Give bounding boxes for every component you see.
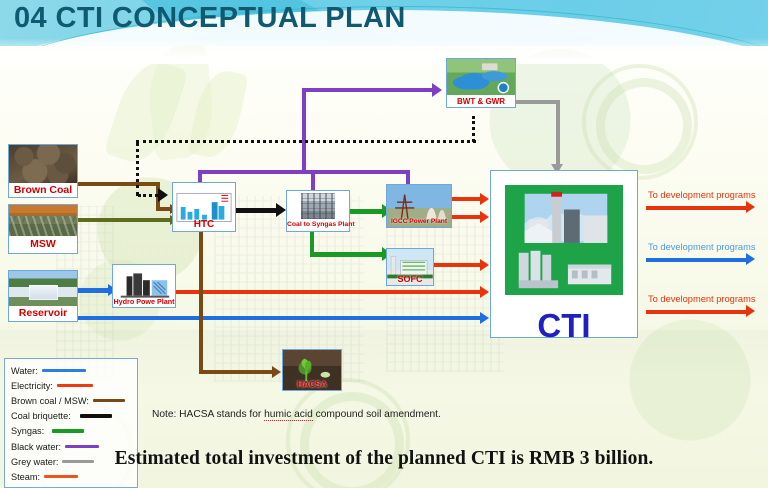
legend-item: Brown coal / MSW: [11,393,132,408]
node-msw[interactable]: MSW [8,204,78,254]
header-fade [0,38,768,64]
node-label: Reservoir [9,306,77,321]
line-recycle-dotted [472,116,475,142]
legend-label: Steam: [11,472,40,482]
arrowhead-electricity [480,286,489,298]
node-hydro-power-plant[interactable]: Hydro Powe Plant [112,264,176,308]
line-htc-to-hacsa [199,232,203,374]
node-igcc-power-plant[interactable]: IGCC Power Plant [386,184,452,228]
line-greywater-bus [516,100,560,104]
node-htc[interactable]: HTC [172,182,236,232]
legend-label: Electricity: [11,381,53,391]
legend-swatch-brown-coal [93,399,125,402]
line-msw-to-htc [78,218,172,222]
node-label: Hydro Powe Plant [113,296,175,307]
legend-item: Syngas: [11,424,132,439]
node-label: Coal to Syngas Plant [287,219,349,230]
arrowhead-electricity [480,259,489,271]
line-blackwater-riser [302,88,306,172]
arrowhead-electricity [480,193,489,205]
line-greywater-riser [556,100,560,166]
line-output-3 [646,310,750,314]
arrowhead-output-2 [746,253,755,265]
note-underlined: humic acid [264,409,313,421]
arrowhead-briquette [276,203,286,217]
msw-photo [9,205,77,236]
node-label: SOFC [387,274,433,285]
arrowhead-brown [272,366,281,378]
line-syngas-to-sofc [310,252,386,257]
node-label: Brown Coal [9,183,77,198]
industrial-plant-icon [505,185,623,295]
legend-label: Brown coal / MSW: [11,396,89,406]
line-igcc-to-cti [452,197,482,201]
legend-item: Water: [11,363,132,378]
footer-statement: Estimated total investment of the planne… [0,448,768,470]
arrowhead-electricity [480,211,489,223]
line-blackwater-to-bwt [302,88,436,92]
node-label: BWT & GWR [447,95,515,108]
water-treatment-icon [447,59,515,95]
line-output-2 [646,258,750,262]
legend-label: Coal briquette: [11,411,71,421]
legend-label: Syngas: [11,426,44,436]
legend-label: Water: [11,366,38,376]
brown-coal-photo [9,145,77,183]
line-reservoir-to-hydro [78,288,110,293]
node-coal-to-syngas-plant[interactable]: Coal to Syngas Plant [286,190,350,232]
line-htc-to-syngas [236,208,280,213]
line-syngas-to-igcc [350,209,386,214]
legend-item: Coal briquette: [11,409,132,424]
legend-item: Electricity: [11,378,132,393]
output-label-2: To development programs [648,242,756,252]
output-label-1: To development programs [648,190,756,200]
legend-swatch-syngas [52,429,84,433]
line-recycle-dotted [136,140,476,143]
line-htc-to-hacsa [199,370,275,374]
cti-photo [505,185,623,295]
line-recycle-dotted [138,194,158,197]
line-recycle-dotted [136,142,139,196]
cti-label: CTI [491,309,637,343]
node-label: IGCC Power Plant [387,217,451,226]
legend-swatch-electricity [57,384,93,387]
slide-canvas: 04 CTI CONCEPTUAL PLAN [0,0,768,488]
line-reservoir-to-cti [78,316,482,320]
node-hacsa[interactable]: HACSA [282,349,342,391]
node-cti[interactable]: CTI [490,170,638,338]
arrowhead-recycle [158,188,168,202]
node-sofc[interactable]: SOFC [386,248,434,286]
arrowhead-water [480,312,489,324]
node-label: HTC [173,217,235,232]
arrowhead-output-3 [746,305,755,317]
legend-swatch-water [42,369,86,372]
syngas-plant-photo [301,193,335,219]
arrowhead-output-1 [746,201,755,213]
node-label: HACSA [283,379,341,390]
output-label-3: To development programs [648,294,756,304]
line-igcc-to-cti [452,215,482,219]
node-brown-coal[interactable]: Brown Coal [8,144,78,198]
line-syngas-blackwater [311,170,315,190]
note-prefix: Note: HACSA stands for [152,409,264,420]
note-rest: compound soil amendment. [313,409,441,420]
line-output-1 [646,206,750,210]
line-hydro-to-cti [176,290,482,294]
ring-watermark [582,64,698,180]
page-title: 04 CTI CONCEPTUAL PLAN [14,2,406,35]
legend-swatch-briquette [80,414,112,418]
note-text: Note: HACSA stands for humic acid compou… [152,409,441,420]
node-bwt-gwr[interactable]: BWT & GWR [446,58,516,108]
legend-item: Steam: [11,469,132,484]
line-sofc-to-cti [434,263,482,267]
line-brown-coal-to-htc [78,182,160,186]
node-label: MSW [9,236,77,252]
arrowhead-blackwater [432,83,442,97]
bwt-gwr-photo [447,59,515,95]
reservoir-photo [9,271,77,306]
legend-swatch-steam [44,475,78,478]
node-reservoir[interactable]: Reservoir [8,270,78,322]
